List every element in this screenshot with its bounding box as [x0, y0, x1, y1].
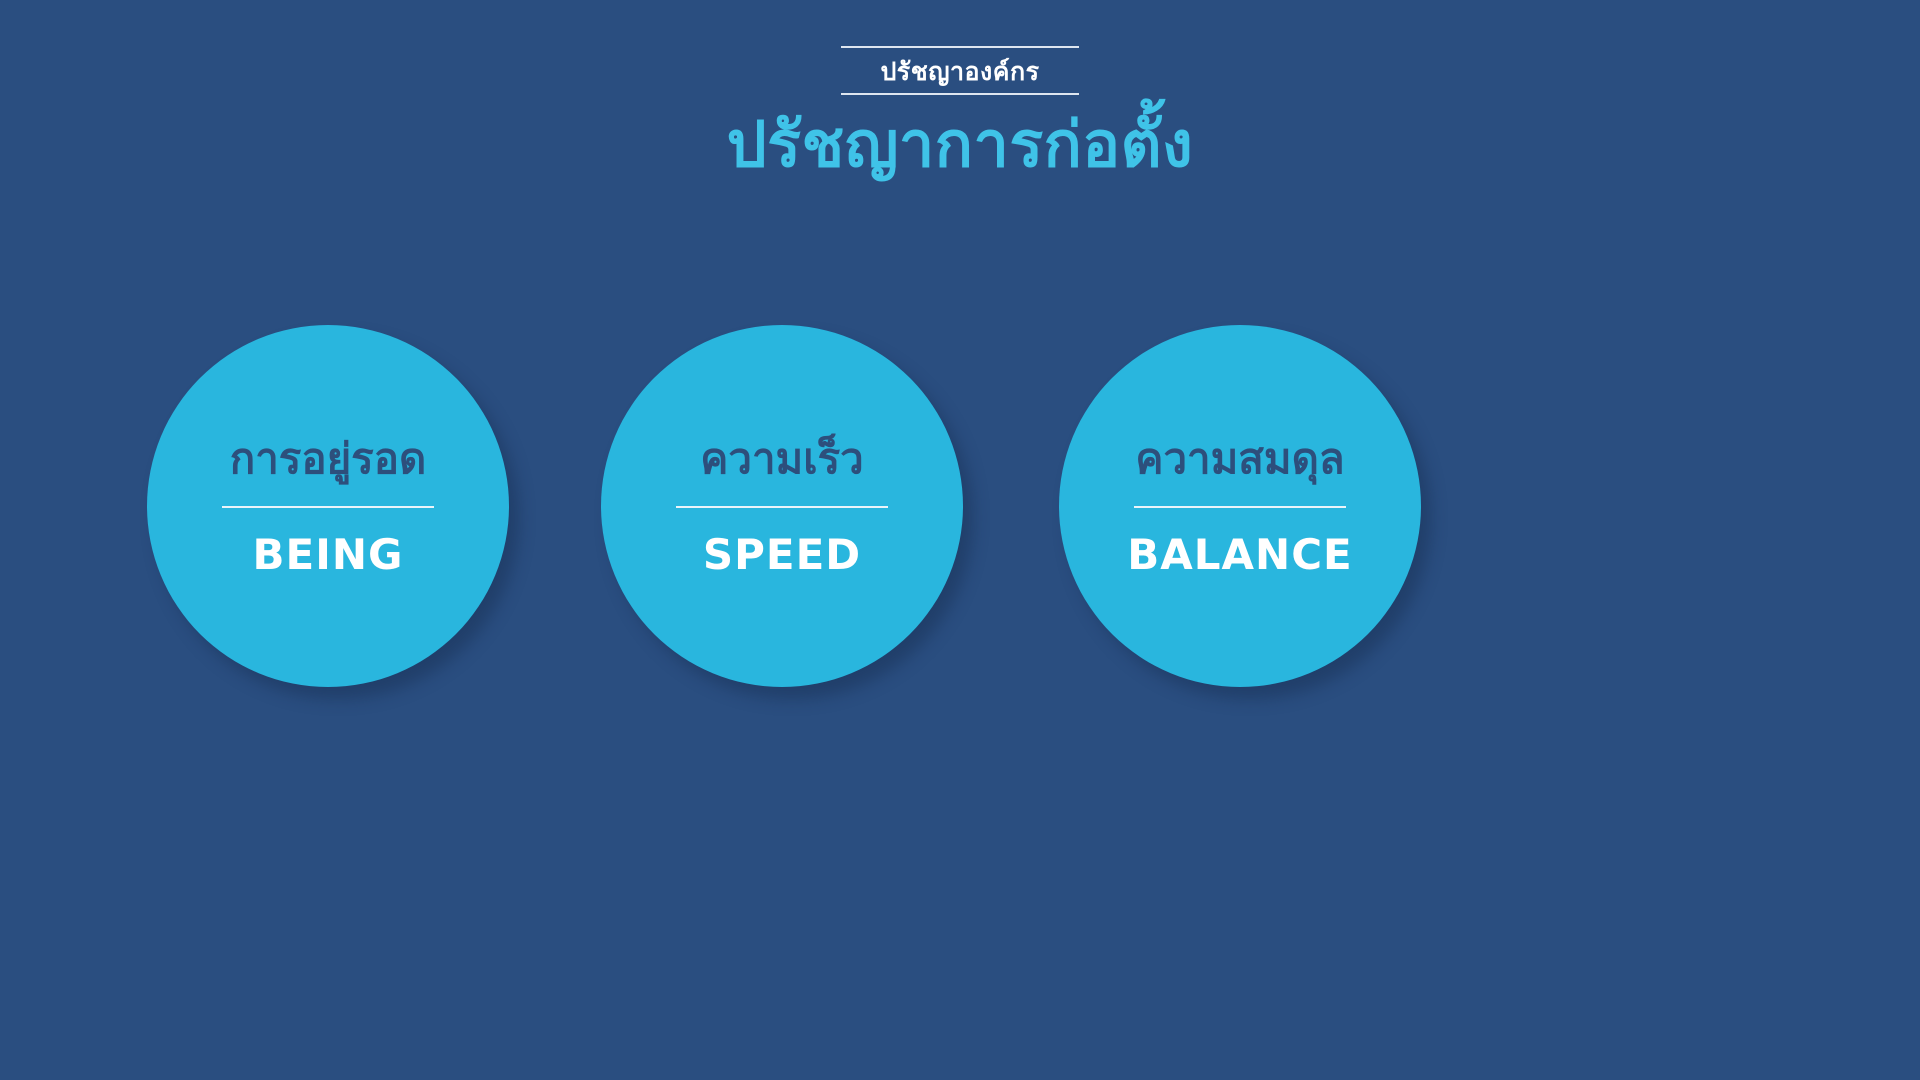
eyebrow-block: ปรัชญาองค์กร: [841, 46, 1079, 95]
pillar-content: การอยู่รอด BEING: [147, 435, 509, 577]
eyebrow-rule-top: [841, 46, 1079, 48]
pillar-divider: [676, 506, 888, 508]
pillar-label-th: ความเร็ว: [700, 435, 863, 483]
pillar-circle-row: การอยู่รอด BEING ความเร็ว SPEED ความสมดุ…: [0, 325, 1920, 745]
pillar-label-en: SPEED: [703, 533, 861, 577]
pillar-label-en: BALANCE: [1127, 533, 1352, 577]
pillar-divider: [222, 506, 434, 508]
page-title: ปรัชญาการก่อตั้ง: [0, 112, 1920, 178]
slide-header: ปรัชญาองค์กร ปรัชญาการก่อตั้ง: [0, 0, 1920, 178]
eyebrow-label: ปรัชญาองค์กร: [841, 48, 1079, 93]
pillar-circle-speed[interactable]: ความเร็ว SPEED: [601, 325, 963, 687]
pillar-label-th: ความสมดุล: [1135, 435, 1344, 483]
pillar-label-en: BEING: [253, 533, 404, 577]
pillar-label-th: การอยู่รอด: [230, 435, 426, 483]
pillar-content: ความเร็ว SPEED: [601, 435, 963, 577]
slide-root: ปรัชญาองค์กร ปรัชญาการก่อตั้ง การอยู่รอด…: [0, 0, 1920, 1080]
pillar-circle-balance[interactable]: ความสมดุล BALANCE: [1059, 325, 1421, 687]
pillar-content: ความสมดุล BALANCE: [1059, 435, 1421, 577]
pillar-circle-being[interactable]: การอยู่รอด BEING: [147, 325, 509, 687]
pillar-divider: [1134, 506, 1346, 508]
eyebrow-rule-bottom: [841, 93, 1079, 95]
